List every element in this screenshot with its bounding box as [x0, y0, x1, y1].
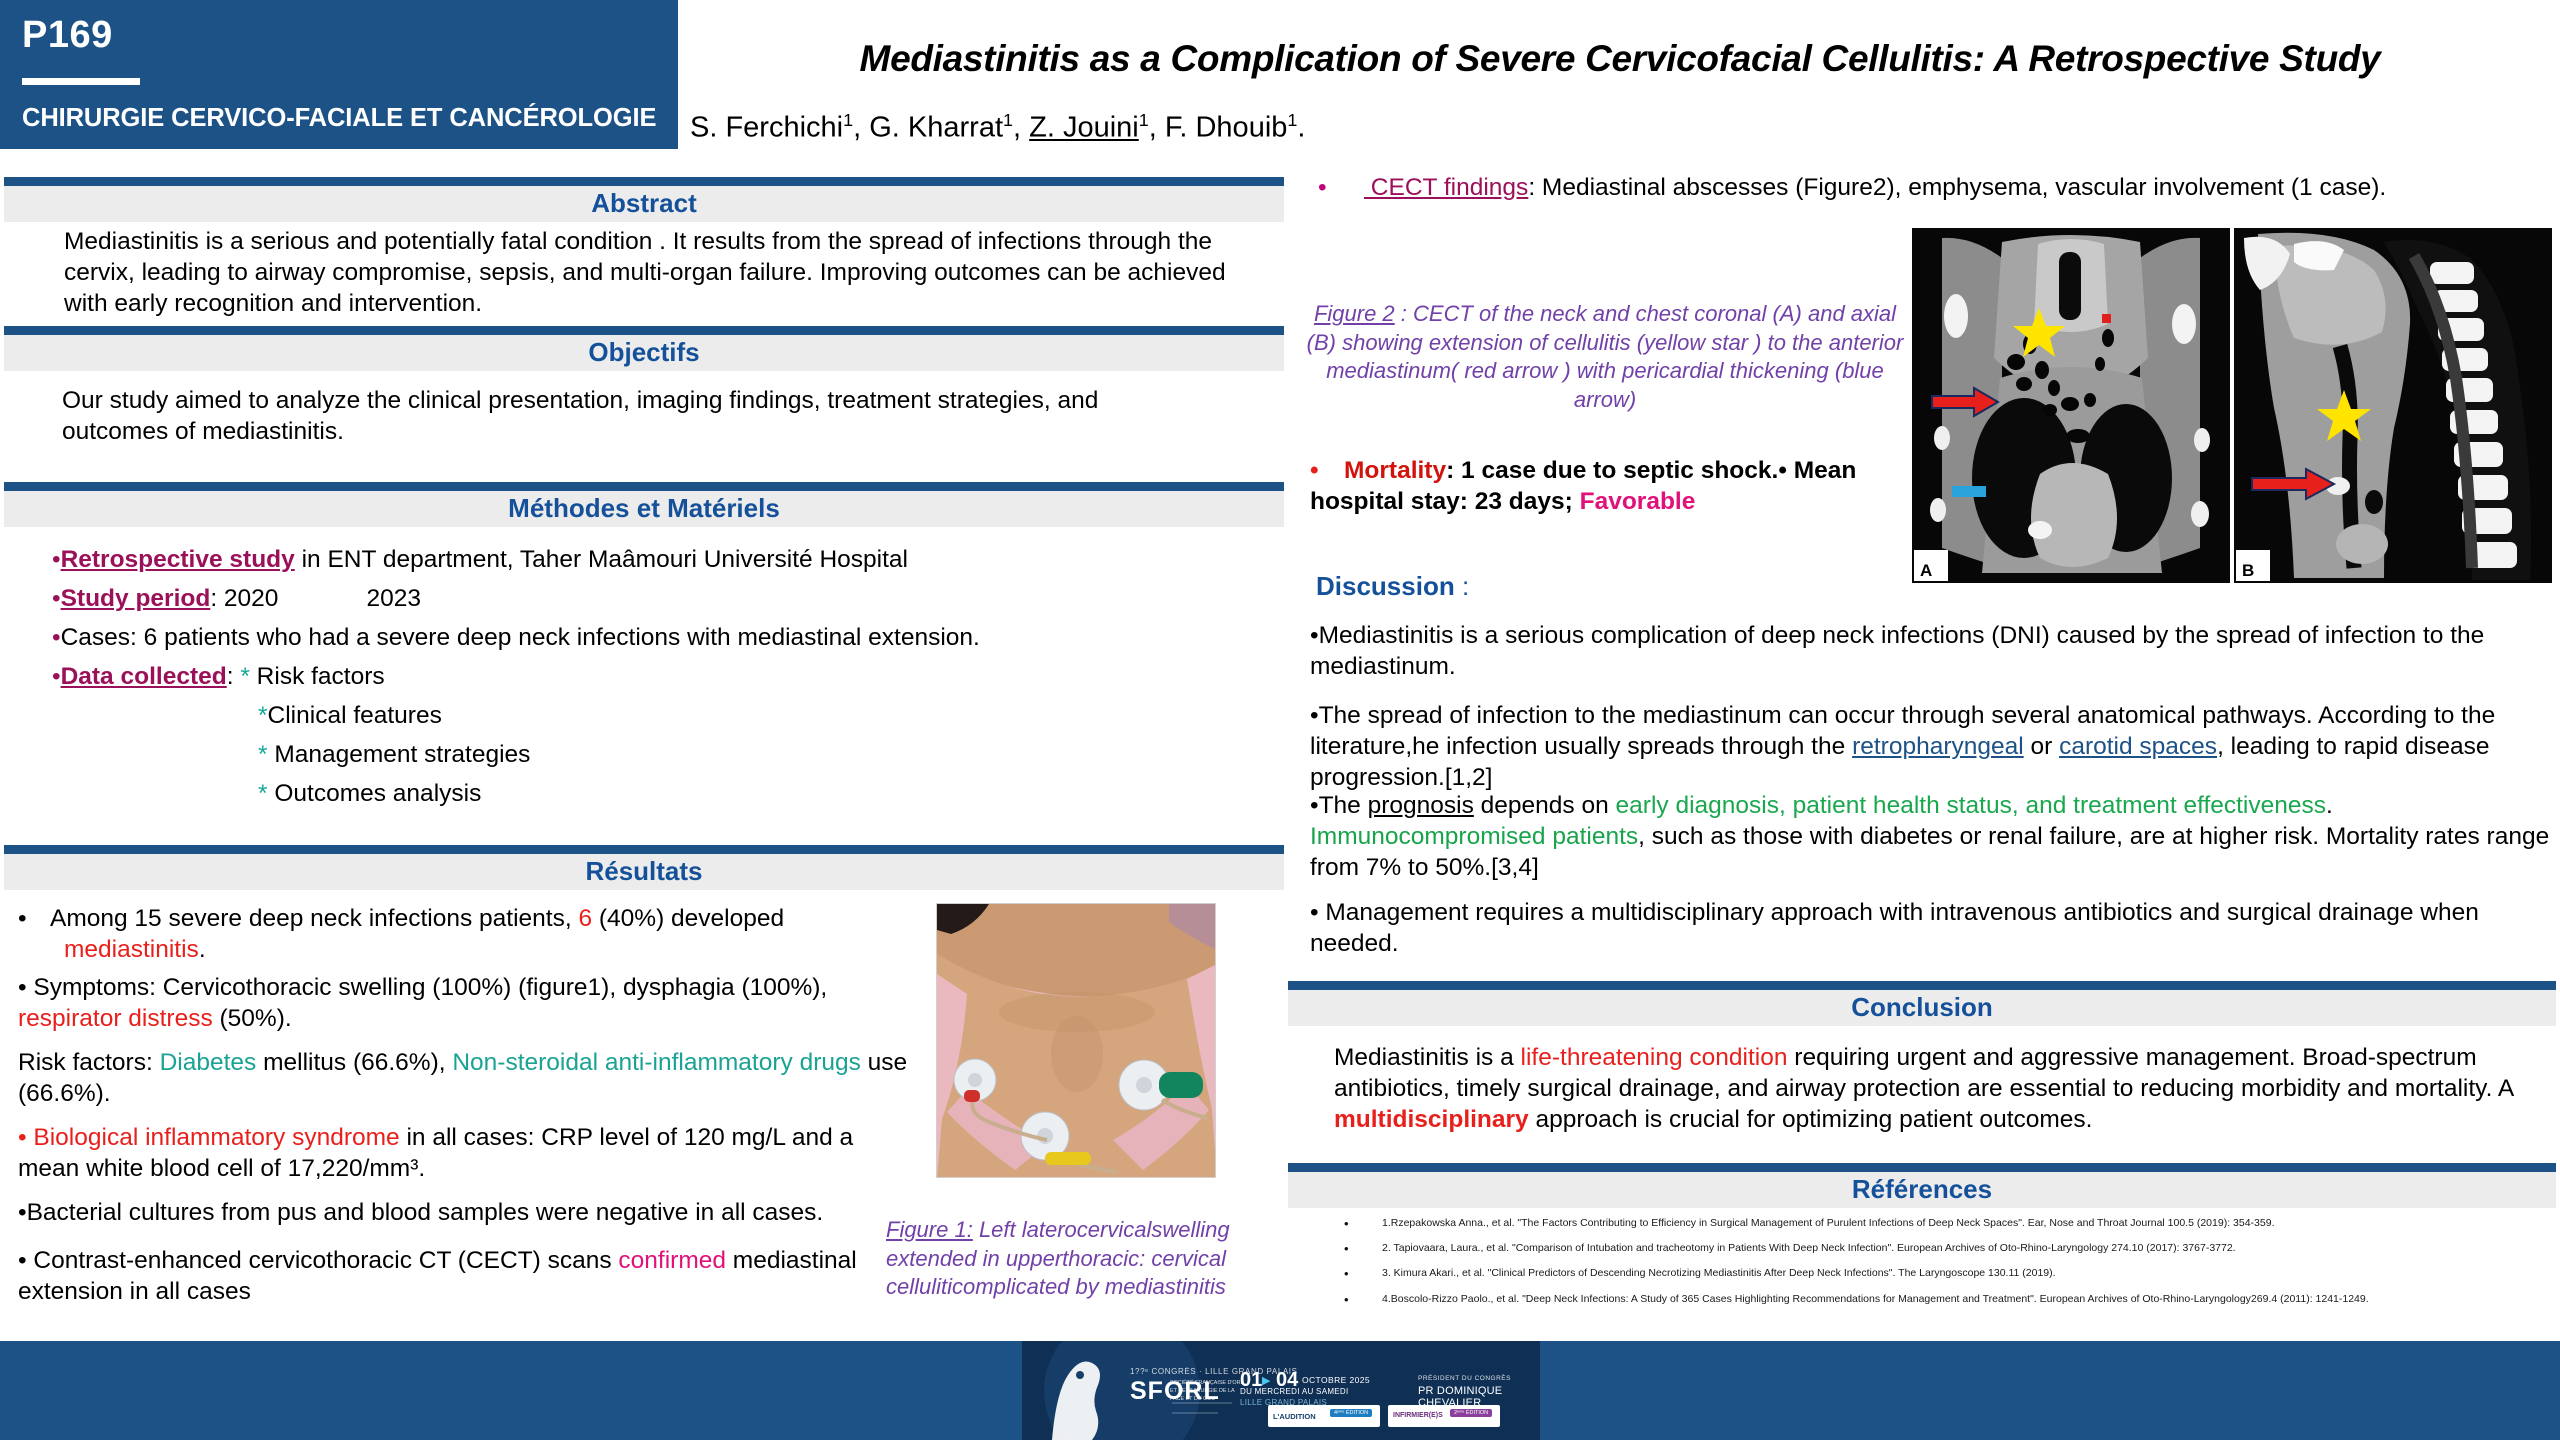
- conclusion-body: Mediastinitis is a life-threatening cond…: [1334, 1042, 2520, 1135]
- star-icon: *: [258, 741, 268, 768]
- concl-life-threatening: life-threatening condition: [1521, 1044, 1788, 1071]
- methodes-heading: Méthodes et Matériels: [4, 491, 1284, 527]
- resultats-item-2: • Symptoms: Cervicothoracic swelling (10…: [18, 972, 848, 1034]
- author-1: S. Ferchichi: [690, 112, 843, 144]
- res1-d: .: [199, 936, 206, 963]
- concl-a: Mediastinitis is a: [1334, 1044, 1521, 1071]
- department-label: CHIRURGIE CERVICO-FACIALE ET CANCÉROLOGI…: [22, 104, 656, 133]
- poster-code-badge: P169 CHIRURGIE CERVICO-FACIALE ET CANCÉR…: [0, 0, 678, 152]
- bullet-icon: •: [1318, 172, 1364, 203]
- bullet-icon: •: [52, 546, 61, 573]
- reference-item: 4.Boscolo-Rizzo Paolo., et al. "Deep Nec…: [1336, 1292, 2550, 1306]
- references-section-rule: [1288, 1163, 2556, 1172]
- congress-footer-banner: 1??ᵉ CONGRÈS · LILLE GRAND PALAIS SFORL …: [1022, 1341, 1540, 1440]
- concl-multidisciplinary: multidisciplinary: [1334, 1106, 1529, 1133]
- sep: ,: [853, 112, 869, 144]
- res1-a: Among 15 severe deep neck infections pat…: [50, 905, 578, 932]
- ct-sagittal-image: [2234, 228, 2552, 583]
- conclusion-section-rule: [1288, 981, 2556, 990]
- ct-pane-b: B: [2234, 228, 2552, 583]
- figure-1-caption: Figure 1: Left laterocervicalswelling ex…: [886, 1216, 1306, 1302]
- methodes-line-2: •Study period: 20202023: [52, 583, 1262, 614]
- figure-2-caption: Figure 2 : CECT of the neck and chest co…: [1300, 300, 1910, 414]
- methodes-sub-item-4: * Outcomes analysis: [258, 778, 481, 809]
- disc3-prognosis: prognosis: [1368, 792, 1474, 819]
- mortality-outcome: Favorable: [1580, 488, 1696, 515]
- page-title: Mediastinitis as a Complication of Sever…: [700, 38, 2540, 80]
- res1-b: (40%) developed: [592, 905, 784, 932]
- poster-code: P169: [22, 14, 113, 57]
- badge-audition-edition: 4ᵉᵐᵉ ÉDITION: [1330, 1409, 1372, 1417]
- congress-society-name: SOCIÉTÉ FRANÇAISE D'ORL ET DE CHIRURGIE …: [1170, 1379, 1244, 1403]
- abstract-heading: Abstract: [4, 186, 1284, 222]
- disc3-green-1: early diagnosis, patient health status, …: [1616, 792, 2326, 819]
- discussion-para-1: •Mediastinitis is a serious complication…: [1310, 620, 2550, 682]
- sep: ,: [1013, 112, 1029, 144]
- res6-confirmed: confirmed: [618, 1247, 726, 1274]
- cect-findings-line: • CECT findings: Mediastinal abscesses (…: [1318, 172, 2548, 203]
- abstract-section-rule: [4, 177, 1284, 186]
- resultats-item-5: •Bacterial cultures from pus and blood s…: [18, 1197, 938, 1228]
- discussion-para-3: •The prognosis depends on early diagnosi…: [1310, 790, 2555, 883]
- reference-item: 1.Rzepakowska Anna., et al. "The Factors…: [1336, 1216, 2550, 1230]
- badge-divider: [22, 78, 140, 85]
- disc3-c: .: [2326, 792, 2333, 819]
- date-month: OCTOBRE 2025: [1302, 1375, 1370, 1385]
- methodes-key-data: Data collected: [61, 663, 227, 690]
- ct-pane-b-label: B: [2236, 561, 2260, 581]
- sep: .: [1297, 112, 1305, 144]
- author-4-affil: 1: [1287, 110, 1297, 130]
- methodes-sub-item-3: * Management strategies: [258, 739, 530, 770]
- abstract-body: Mediastinitis is a serious and potential…: [64, 226, 1254, 319]
- methodes-line-3: •Cases: 6 patients who had a severe deep…: [52, 622, 1262, 653]
- conclusion-heading: Conclusion: [1288, 990, 2556, 1026]
- methodes-cases: Cases: 6 patients who had a severe deep …: [61, 624, 980, 651]
- discussion-para-2: •The spread of infection to the mediasti…: [1310, 700, 2555, 793]
- res2-a: • Symptoms: Cervicothoracic swelling (10…: [18, 974, 827, 1001]
- methodes-key-retrospective: Retrospective study: [61, 546, 295, 573]
- resultats-item-6: • Contrast-enhanced cervicothoracic CT (…: [18, 1245, 898, 1307]
- president-label: PRÉSIDENT DU CONGRÈS: [1418, 1375, 1511, 1382]
- bullet-icon: •: [52, 624, 61, 651]
- figure-2-ct-images: A: [1912, 228, 2552, 583]
- poster-canvas: P169 CHIRURGIE CERVICO-FACIALE ET CANCÉR…: [0, 0, 2560, 1440]
- methodes-section-rule: [4, 482, 1284, 491]
- res1-mediastinitis: mediastinitis: [64, 936, 199, 963]
- figure-1-image: [937, 904, 1216, 1178]
- methodes-line-1-rest: in ENT department, Taher Maâmouri Univer…: [295, 546, 908, 573]
- methodes-key-period: Study period: [61, 585, 211, 612]
- res2-c: (50%).: [213, 1005, 292, 1032]
- figure-2-caption-text: : CECT of the neck and chest coronal (A)…: [1307, 301, 1904, 412]
- mortality-key: Mortality: [1344, 457, 1446, 484]
- blue-arrow-marker: [1952, 486, 1986, 497]
- sep: ,: [1149, 112, 1165, 144]
- link-retropharyngeal[interactable]: retropharyngeal: [1852, 733, 2024, 760]
- cect-findings-rest: : Mediastinal abscesses (Figure2), emphy…: [1528, 174, 2386, 201]
- res3-c: mellitus (66.6%),: [256, 1049, 452, 1076]
- authors-line: S. Ferchichi1, G. Kharrat1, Z. Jouini1, …: [690, 110, 1890, 145]
- references-heading: Références: [1288, 1172, 2556, 1208]
- methodes-sub-1: Risk factors: [250, 663, 385, 690]
- methodes-sub-3: Management strategies: [268, 741, 531, 768]
- resultats-item-4: • Biological inflammatory syndrome in al…: [18, 1122, 918, 1184]
- date-arrow-icon: ▶: [1262, 1374, 1270, 1387]
- badge-audition-label: L'AUDITION: [1273, 1412, 1316, 1421]
- res4-bullet: •: [18, 1124, 33, 1151]
- star-icon: *: [258, 780, 268, 807]
- resultats-item-3: Risk factors: Diabetes mellitus (66.6%),…: [18, 1047, 908, 1109]
- resultats-section-rule: [4, 845, 1284, 854]
- methodes-line-1: •Retrospective study in ENT department, …: [52, 544, 1262, 575]
- resultats-heading: Résultats: [4, 854, 1284, 890]
- discussion-heading-colon: :: [1455, 571, 1469, 601]
- res2-respirator: respirator distress: [18, 1005, 213, 1032]
- badge-audition: L'AUDITION 4ᵉᵐᵉ ÉDITION: [1268, 1405, 1380, 1427]
- ct-pane-a-label: A: [1914, 561, 1938, 581]
- author-3: Z. Jouini: [1029, 112, 1139, 144]
- discussion-heading: Discussion: [1316, 571, 1455, 601]
- res3-a: Risk factors:: [18, 1049, 160, 1076]
- ct-pane-a: A: [1912, 228, 2230, 583]
- badge-infirmiers: INFIRMIER(E)S 2ᵉᵐᵉ ÉDITION: [1388, 1405, 1500, 1427]
- figure-2-label: Figure 2: [1314, 301, 1395, 326]
- author-1-affil: 1: [843, 110, 853, 130]
- cect-findings-key: CECT findings: [1364, 174, 1528, 201]
- disc3-green-2: Immunocompromised patients: [1310, 823, 1638, 850]
- methodes-line-4: •Data collected: * Risk factors: [52, 661, 1262, 692]
- disc2-b: or: [2024, 733, 2059, 760]
- badge-infirmiers-edition: 2ᵉᵐᵉ ÉDITION: [1450, 1409, 1492, 1417]
- star-icon: *: [258, 702, 268, 729]
- figure-1-label: Figure 1:: [886, 1217, 973, 1242]
- res3-nsaid: Non-steroidal anti-inflammatory drugs: [452, 1049, 861, 1076]
- discussion-para-4: • Management requires a multidisciplinar…: [1310, 897, 2555, 959]
- methodes-colon: :: [227, 663, 241, 690]
- author-4: F. Dhouib: [1165, 112, 1288, 144]
- references-list: 1.Rzepakowska Anna., et al. "The Factors…: [1336, 1216, 2550, 1317]
- badge-infirmiers-label: INFIRMIER(E)S: [1393, 1412, 1443, 1419]
- res4-bis: Biological inflammatory syndrome: [33, 1124, 399, 1151]
- methodes-period-start: : 2020: [210, 585, 278, 612]
- objectifs-body: Our study aimed to analyze the clinical …: [62, 385, 1202, 447]
- disc3-a: •The: [1310, 792, 1368, 819]
- author-3-affil: 1: [1139, 110, 1149, 130]
- bullet-icon: •: [52, 585, 61, 612]
- star-icon: *: [240, 663, 250, 690]
- bullet-icon: •: [1310, 455, 1344, 486]
- ct-coronal-image: [1912, 228, 2230, 583]
- date-days: DU MERCREDI AU SAMEDI: [1240, 1387, 1349, 1396]
- methodes-sub-item-2: *Clinical features: [258, 700, 442, 731]
- reference-item: 3. Kimura Akari., et al. "Clinical Predi…: [1336, 1266, 2550, 1280]
- author-2-affil: 1: [1003, 110, 1013, 130]
- reference-item: 2. Tapiovaara, Laura., et al. "Compariso…: [1336, 1241, 2550, 1255]
- concl-c: approach is crucial for optimizing patie…: [1529, 1106, 2093, 1133]
- methodes-period-end: 2023: [366, 585, 421, 612]
- methodes-sub-2: Clinical features: [268, 702, 442, 729]
- res3-diabetes: Diabetes: [160, 1049, 257, 1076]
- disc3-b: depends on: [1474, 792, 1616, 819]
- link-carotid-spaces[interactable]: carotid spaces: [2059, 733, 2217, 760]
- discussion-heading-wrap: Discussion :: [1316, 570, 1469, 603]
- figure-1-clinical-photo: [936, 903, 1216, 1178]
- objectifs-heading: Objectifs: [4, 335, 1284, 371]
- res6-a: • Contrast-enhanced cervicothoracic CT (…: [18, 1247, 618, 1274]
- congress-line: 1??ᵉ CONGRÈS · LILLE GRAND PALAIS: [1130, 1367, 1298, 1376]
- mortality-line: •Mortality: 1 case due to septic shock.•…: [1310, 455, 1880, 517]
- methodes-sub-4: Outcomes analysis: [268, 780, 482, 807]
- res1-count: 6: [578, 905, 592, 932]
- bullet-icon: •: [52, 663, 61, 690]
- objectifs-section-rule: [4, 326, 1284, 335]
- author-2: G. Kharrat: [869, 112, 1003, 144]
- resultats-item-1: •Among 15 severe deep neck infections pa…: [18, 903, 908, 965]
